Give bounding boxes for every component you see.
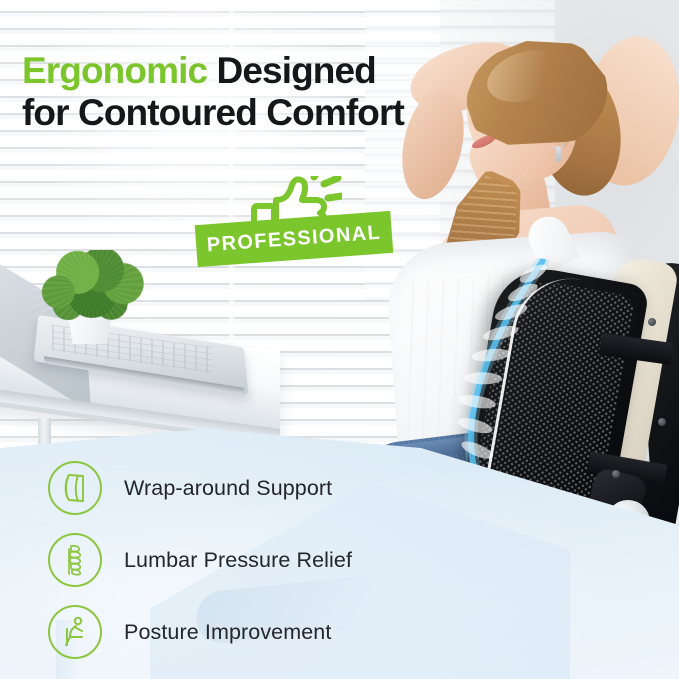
chair-screw <box>648 318 656 326</box>
headline-line-1-rest: Designed <box>207 50 376 91</box>
cushion-icon <box>48 461 102 515</box>
list-item-label: Wrap-around Support <box>124 476 332 501</box>
chair-screw <box>612 470 620 478</box>
list-item-label: Lumbar Pressure Relief <box>124 548 352 573</box>
page-title: Ergonomic Designed for Contoured Comfort <box>22 50 472 134</box>
headline-line-2: for Contoured Comfort <box>22 92 472 134</box>
plant-texture <box>32 250 152 320</box>
list-item: Posture Improvement <box>48 596 468 668</box>
earring-drop <box>556 146 561 162</box>
headline-line-1: Ergonomic Designed <box>22 50 472 92</box>
list-item: Lumbar Pressure Relief <box>48 524 468 596</box>
list-item: Wrap-around Support <box>48 452 468 524</box>
badge-ribbon: PROFESSIONAL <box>195 211 394 267</box>
product-marketing-image: Ergonomic Designed for Contoured Comfort… <box>0 0 679 679</box>
seated-person-icon <box>48 605 102 659</box>
headline-accent-word: Ergonomic <box>22 50 207 91</box>
feature-list: Wrap-around Support Lumbar Pressure Reli… <box>48 452 468 668</box>
professional-badge: PROFESSIONAL <box>196 178 392 264</box>
list-item-label: Posture Improvement <box>124 620 331 645</box>
chair-screw <box>658 418 666 426</box>
badge-label: PROFESSIONAL <box>206 221 382 257</box>
spine-icon <box>48 533 102 587</box>
